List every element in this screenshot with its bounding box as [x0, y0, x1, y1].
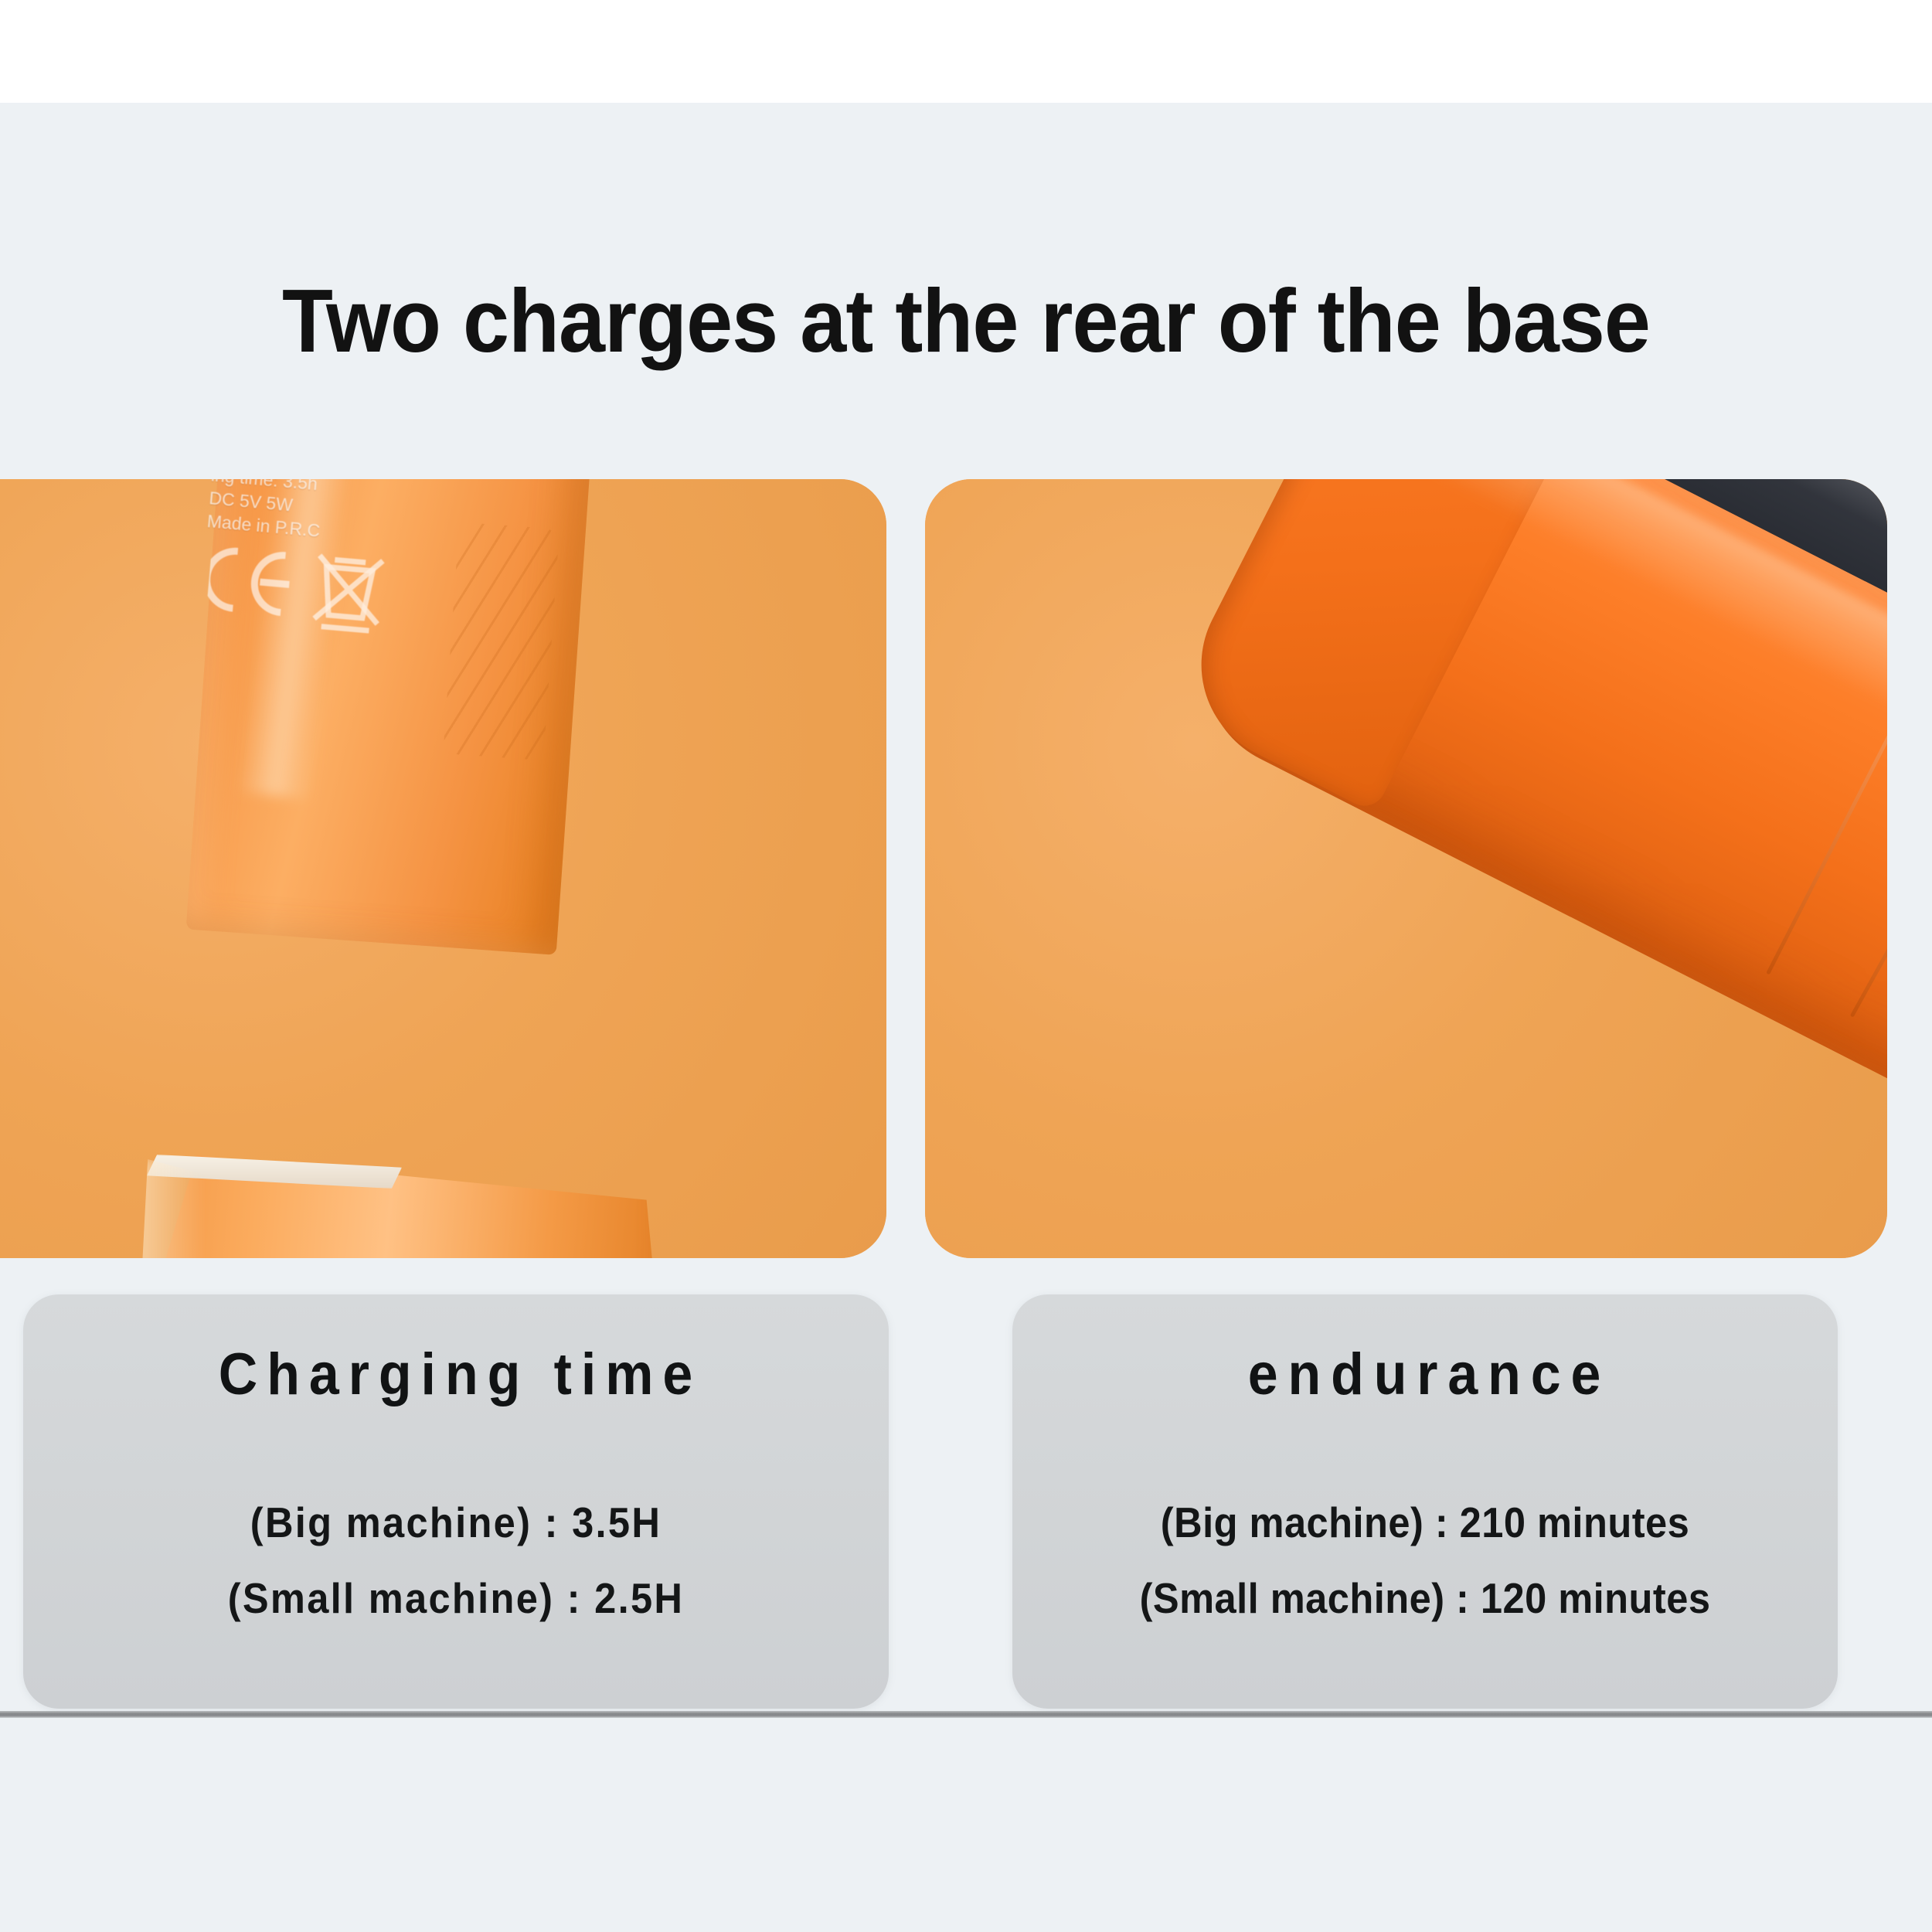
charging-base-photo: ing time: 3.5h DC 5V 5W Made in P.R.C — [0, 479, 886, 1258]
product-infographic-page: Two charges at the rear of the base ing … — [0, 0, 1932, 1932]
charging-time-small-machine: (Small machine) : 2.5H — [58, 1560, 854, 1636]
device-rear-ports-photo — [925, 479, 1887, 1258]
charging-time-big-machine: (Big machine) : 3.5H — [58, 1485, 854, 1560]
endurance-heading: endurance — [1046, 1341, 1805, 1408]
endurance-big-machine: (Big machine) : 210 minutes — [1046, 1485, 1805, 1560]
endurance-card: endurance (Big machine) : 210 minutes (S… — [1012, 1294, 1838, 1709]
bottom-divider — [0, 1711, 1932, 1718]
charging-time-heading: Charging time — [58, 1341, 854, 1408]
page-title: Two charges at the rear of the base — [68, 272, 1865, 371]
endurance-small-machine: (Small machine) : 120 minutes — [1046, 1560, 1805, 1636]
charging-time-card: Charging time (Big machine) : 3.5H (Smal… — [23, 1294, 889, 1709]
charging-time-values: (Big machine) : 3.5H (Small machine) : 2… — [23, 1485, 889, 1636]
endurance-values: (Big machine) : 210 minutes (Small machi… — [1012, 1485, 1838, 1636]
